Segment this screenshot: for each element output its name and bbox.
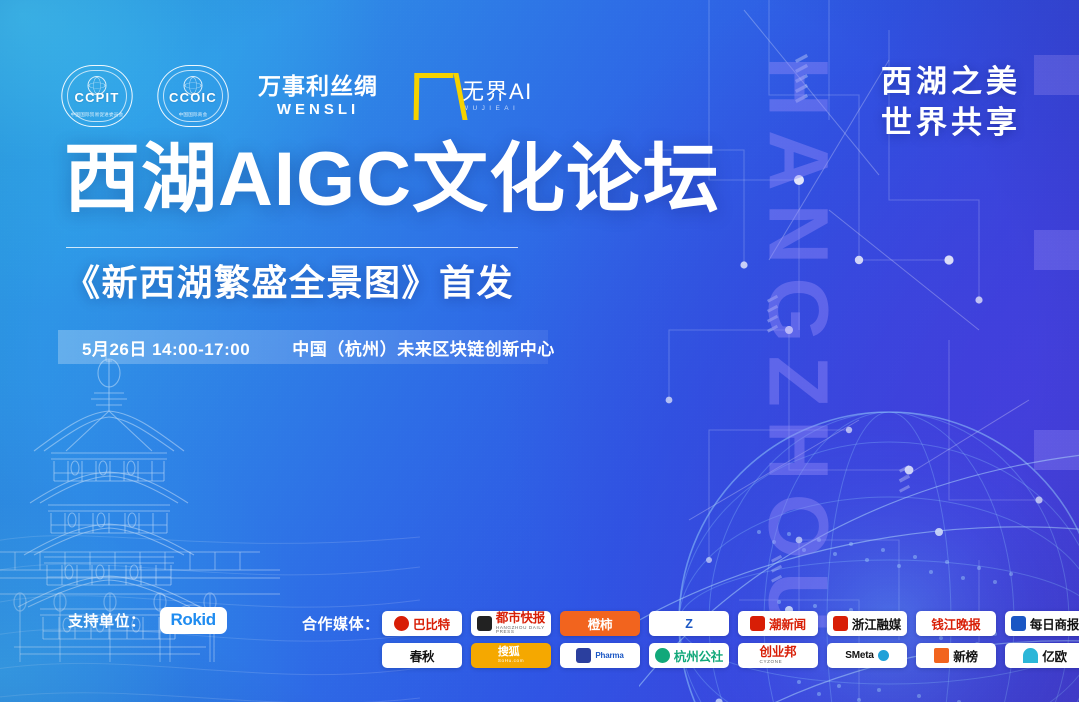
brand-badge-icon [878,650,889,661]
wujie-logo-cn: 无界AI [462,81,533,103]
media-chip-xinbang: 新榜 [916,643,996,668]
event-date: 5月26日 14:00-17:00 [82,335,250,360]
media-chip-pharma: Pharma [560,643,640,668]
wujie-logo-en: WUJIEAI [462,105,533,112]
media-chip-label: Pharma [595,651,623,660]
media-chip-qianjiangwanbao: 钱江晚报 [916,611,996,636]
media-chip-label: 橙柿 [588,614,613,633]
ccpit-logo: CCPIT 中国国际贸易促进委员会 [62,65,132,127]
ccoic-logo-text: CCOIC [169,90,217,105]
media-chip-label: 钱江晚报 [931,614,980,633]
ccoic-logo-subtext: 中国国际商会 [158,112,228,118]
event-venue: 中国（杭州）未来区块链创新中心 [292,335,555,360]
media-chip-label: 潮新闻 [769,614,806,633]
media-chip-label: 搜狐 [498,647,520,658]
media-chip-label: 都市快报 [496,612,545,625]
media-chip-label: 亿欧 [1042,646,1067,665]
event-title: 西湖AIGC文化论坛 [64,142,720,218]
brand-badge-icon [1023,648,1038,663]
media-chip-sublabel: SoHu.com [498,659,524,664]
media-chip-meirishangbao: 每日商报 [1005,611,1079,636]
brand-badge-icon [833,616,848,631]
media-chip-sublabel: CYZONE [760,660,783,665]
media-chip-label: 浙江融媒 [852,614,901,633]
media-chip-label: SMeta [845,650,873,661]
media-chip-label: 巴比特 [413,614,450,633]
brand-badge-icon [1011,616,1026,631]
event-info-bar: 5月26日 14:00-17:00 中国（杭州）未来区块链创新中心 [58,330,548,364]
media-chip-label: 每日商报 [1030,614,1079,633]
media-chip-z: Z [649,611,729,636]
wensli-logo: 万事利丝绸 WENSLI [258,74,378,118]
media-chip-label: 新榜 [953,646,978,665]
media-partners-label: 合作媒体： [302,613,380,634]
media-row-1: 巴比特 都市快报 HANGZHOU DAILY PRESS 橙柿 Z [382,611,1052,636]
wensli-logo-en: WENSLI [277,101,359,118]
media-chip-dushikuaibao: 都市快报 HANGZHOU DAILY PRESS [471,611,551,636]
brand-badge-icon [934,648,949,663]
media-chip-yiou: 亿欧 [1005,643,1079,668]
event-subtitle: 《新西湖繁盛全景图》首发 [64,262,514,303]
ccoic-logo: CCOIC 中国国际商会 [158,65,228,127]
media-chip-smeta: SMeta [827,643,907,668]
media-chip-bitcoin86: 巴比特 [382,611,462,636]
title-divider [66,247,518,248]
brand-badge-icon [655,648,670,663]
media-chip-label: 杭州公社 [674,646,723,665]
event-slogan: 西湖之美 世界共享 [881,62,1021,144]
media-chip-chaoxinwen: 潮新闻 [738,611,818,636]
media-chip-label: 创业邦 [760,646,797,659]
brand-badge-icon [477,616,492,631]
wujie-ai-logo: 无界AI WUJIEAI [414,73,533,120]
media-partners-grid: 巴比特 都市快报 HANGZHOU DAILY PRESS 橙柿 Z [382,611,1052,668]
support-unit-block: 支持单位： Rokid [68,607,227,634]
brand-badge-icon [576,648,591,663]
media-chip-sublabel: HANGZHOU DAILY PRESS [496,626,545,635]
media-chip-zhejiangrongmei: 浙江融媒 [827,611,907,636]
event-poster: HANGZHOU CCPIT 中国国际贸易促进委员会 CCOIC 中国国际商会 … [0,0,1079,702]
slogan-line-1: 西湖之美 [881,62,1021,103]
media-chip-sohu: 搜狐 SoHu.com [471,643,551,668]
slogan-line-2: 世界共享 [881,103,1021,144]
wensli-logo-cn: 万事利丝绸 [258,74,378,98]
media-chip-label: Z [685,617,692,631]
media-chip-chengshi: 橙柿 [560,611,640,636]
media-row-2: 春秋 搜狐 SoHu.com Pharma 杭州公社 [382,643,1052,668]
ccpit-logo-text: CCPIT [75,90,120,105]
gate-mark-icon [414,73,454,120]
support-unit-label: 支持单位： [68,610,146,631]
media-chip-chunqiu: 春秋 [382,643,462,668]
media-chip-label: 春秋 [410,646,435,665]
media-chip-chuangyebang: 创业邦 CYZONE [738,643,818,668]
rokid-logo: Rokid [160,607,227,634]
media-chip-hangzhougongshe: 杭州公社 [649,643,729,668]
brand-badge-icon [750,616,765,631]
ccpit-logo-subtext: 中国国际贸易促进委员会 [62,112,132,118]
partner-logo-row: CCPIT 中国国际贸易促进委员会 CCOIC 中国国际商会 万事利丝绸 WEN… [62,62,533,130]
brand-badge-icon [394,616,409,631]
